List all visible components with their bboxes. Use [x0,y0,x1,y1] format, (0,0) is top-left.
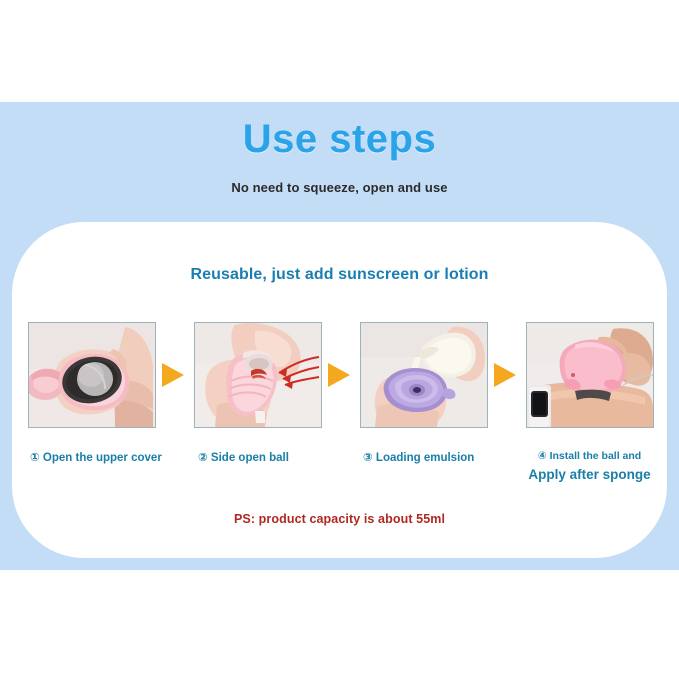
step-caption-2: ② Side open ball [198,450,289,464]
step2-artwork [195,323,321,427]
step3-artwork [361,323,487,427]
arrow-right-icon-2 [324,360,358,390]
step-caption-3: ③ Loading emulsion [363,450,474,464]
step1-artwork [29,323,155,427]
step-photo-loading-emulsion[interactable] [360,322,488,428]
step-photo-side-open-ball[interactable] [194,322,322,428]
step-captions-row: ① Open the upper cover ② Side open ball … [28,450,654,498]
step-photo-open-upper-cover[interactable] [28,322,156,428]
step-caption-4-line1: ④ Install the ball and [525,450,654,462]
step4-artwork [527,323,653,427]
page-root: Use steps No need to squeeze, open and u… [0,0,679,679]
step-caption-4-line2: Apply after sponge [525,467,654,482]
page-subtitle: No need to squeeze, open and use [0,180,679,195]
ps-note: PS: product capacity is about 55ml [0,512,679,526]
step-caption-1: ① Open the upper cover [30,450,162,464]
step-caption-4: ④ Install the ball and Apply after spong… [525,450,654,482]
step-photo-install-and-apply[interactable] [526,322,654,428]
steps-strip [28,320,654,430]
card-heading: Reusable, just add sunscreen or lotion [0,266,679,284]
headline-block: Use steps No need to squeeze, open and u… [0,114,679,195]
page-title: Use steps [0,114,679,164]
arrow-right-icon-3 [490,360,524,390]
arrow-right-icon-1 [158,360,192,390]
